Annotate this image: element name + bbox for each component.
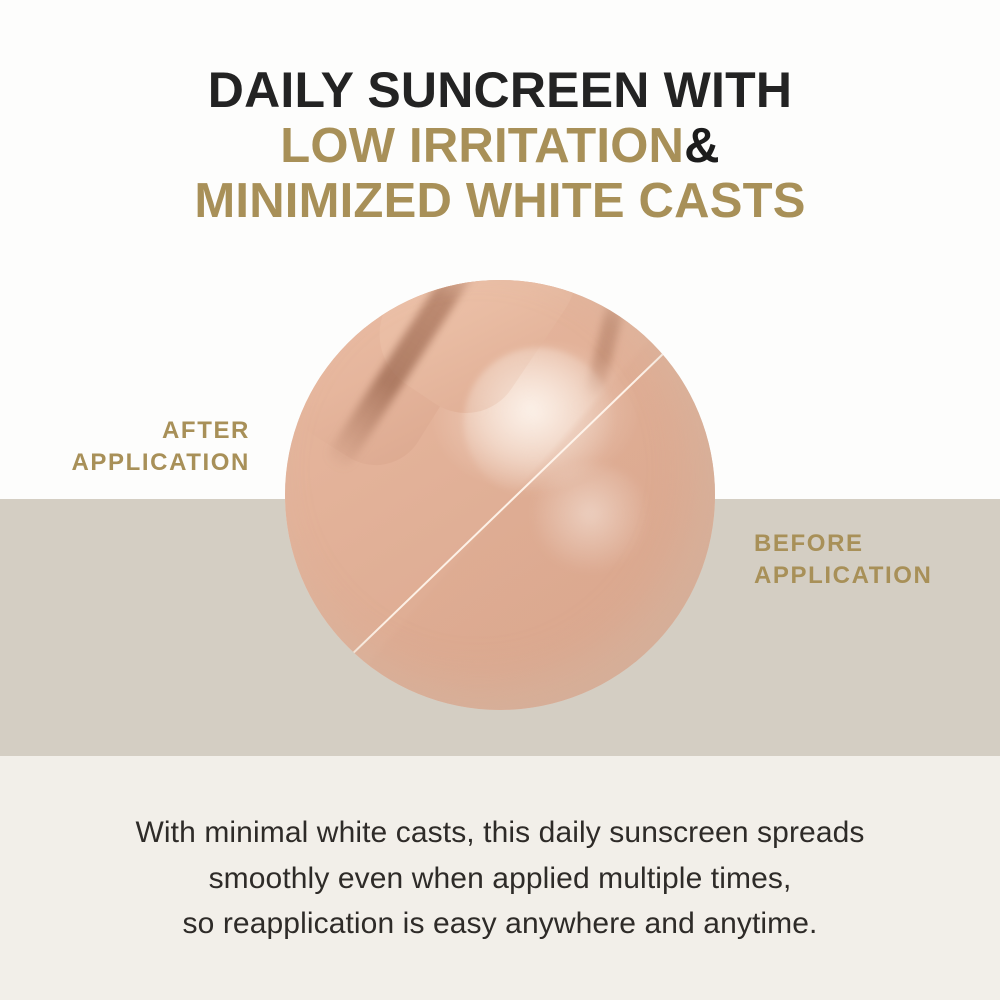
label-after-line-2: APPLICATION <box>72 449 251 476</box>
headline-block: DAILY SUNCREEN WITH LOW IRRITATION& MINI… <box>0 62 1000 229</box>
label-before-line-1: BEFORE <box>754 530 864 557</box>
label-after-application: AFTER APPLICATION <box>10 415 250 478</box>
product-benefit-banner: DAILY SUNCREEN WITH LOW IRRITATION& MINI… <box>0 0 1000 1000</box>
caption-line-2: smoothly even when applied multiple time… <box>60 856 940 902</box>
label-before-line-2: APPLICATION <box>754 562 933 589</box>
headline-line-1: DAILY SUNCREEN WITH <box>0 62 1000 119</box>
headline-line-2-gold: LOW IRRITATION <box>280 119 684 173</box>
label-before-application: BEFORE APPLICATION <box>754 528 994 591</box>
caption-line-1: With minimal white casts, this daily sun… <box>60 810 940 856</box>
before-after-swatch-circle <box>285 280 715 710</box>
label-after-line-1: AFTER <box>162 417 250 444</box>
hand-photo <box>285 280 715 710</box>
headline-line-2: LOW IRRITATION& <box>0 119 1000 174</box>
caption-block: With minimal white casts, this daily sun… <box>60 810 940 947</box>
caption-line-3: so reapplication is easy anywhere and an… <box>60 901 940 947</box>
before-zone-tint <box>285 280 715 710</box>
headline-ampersand: & <box>684 119 720 173</box>
headline-line-3: MINIMIZED WHITE CASTS <box>0 174 1000 229</box>
